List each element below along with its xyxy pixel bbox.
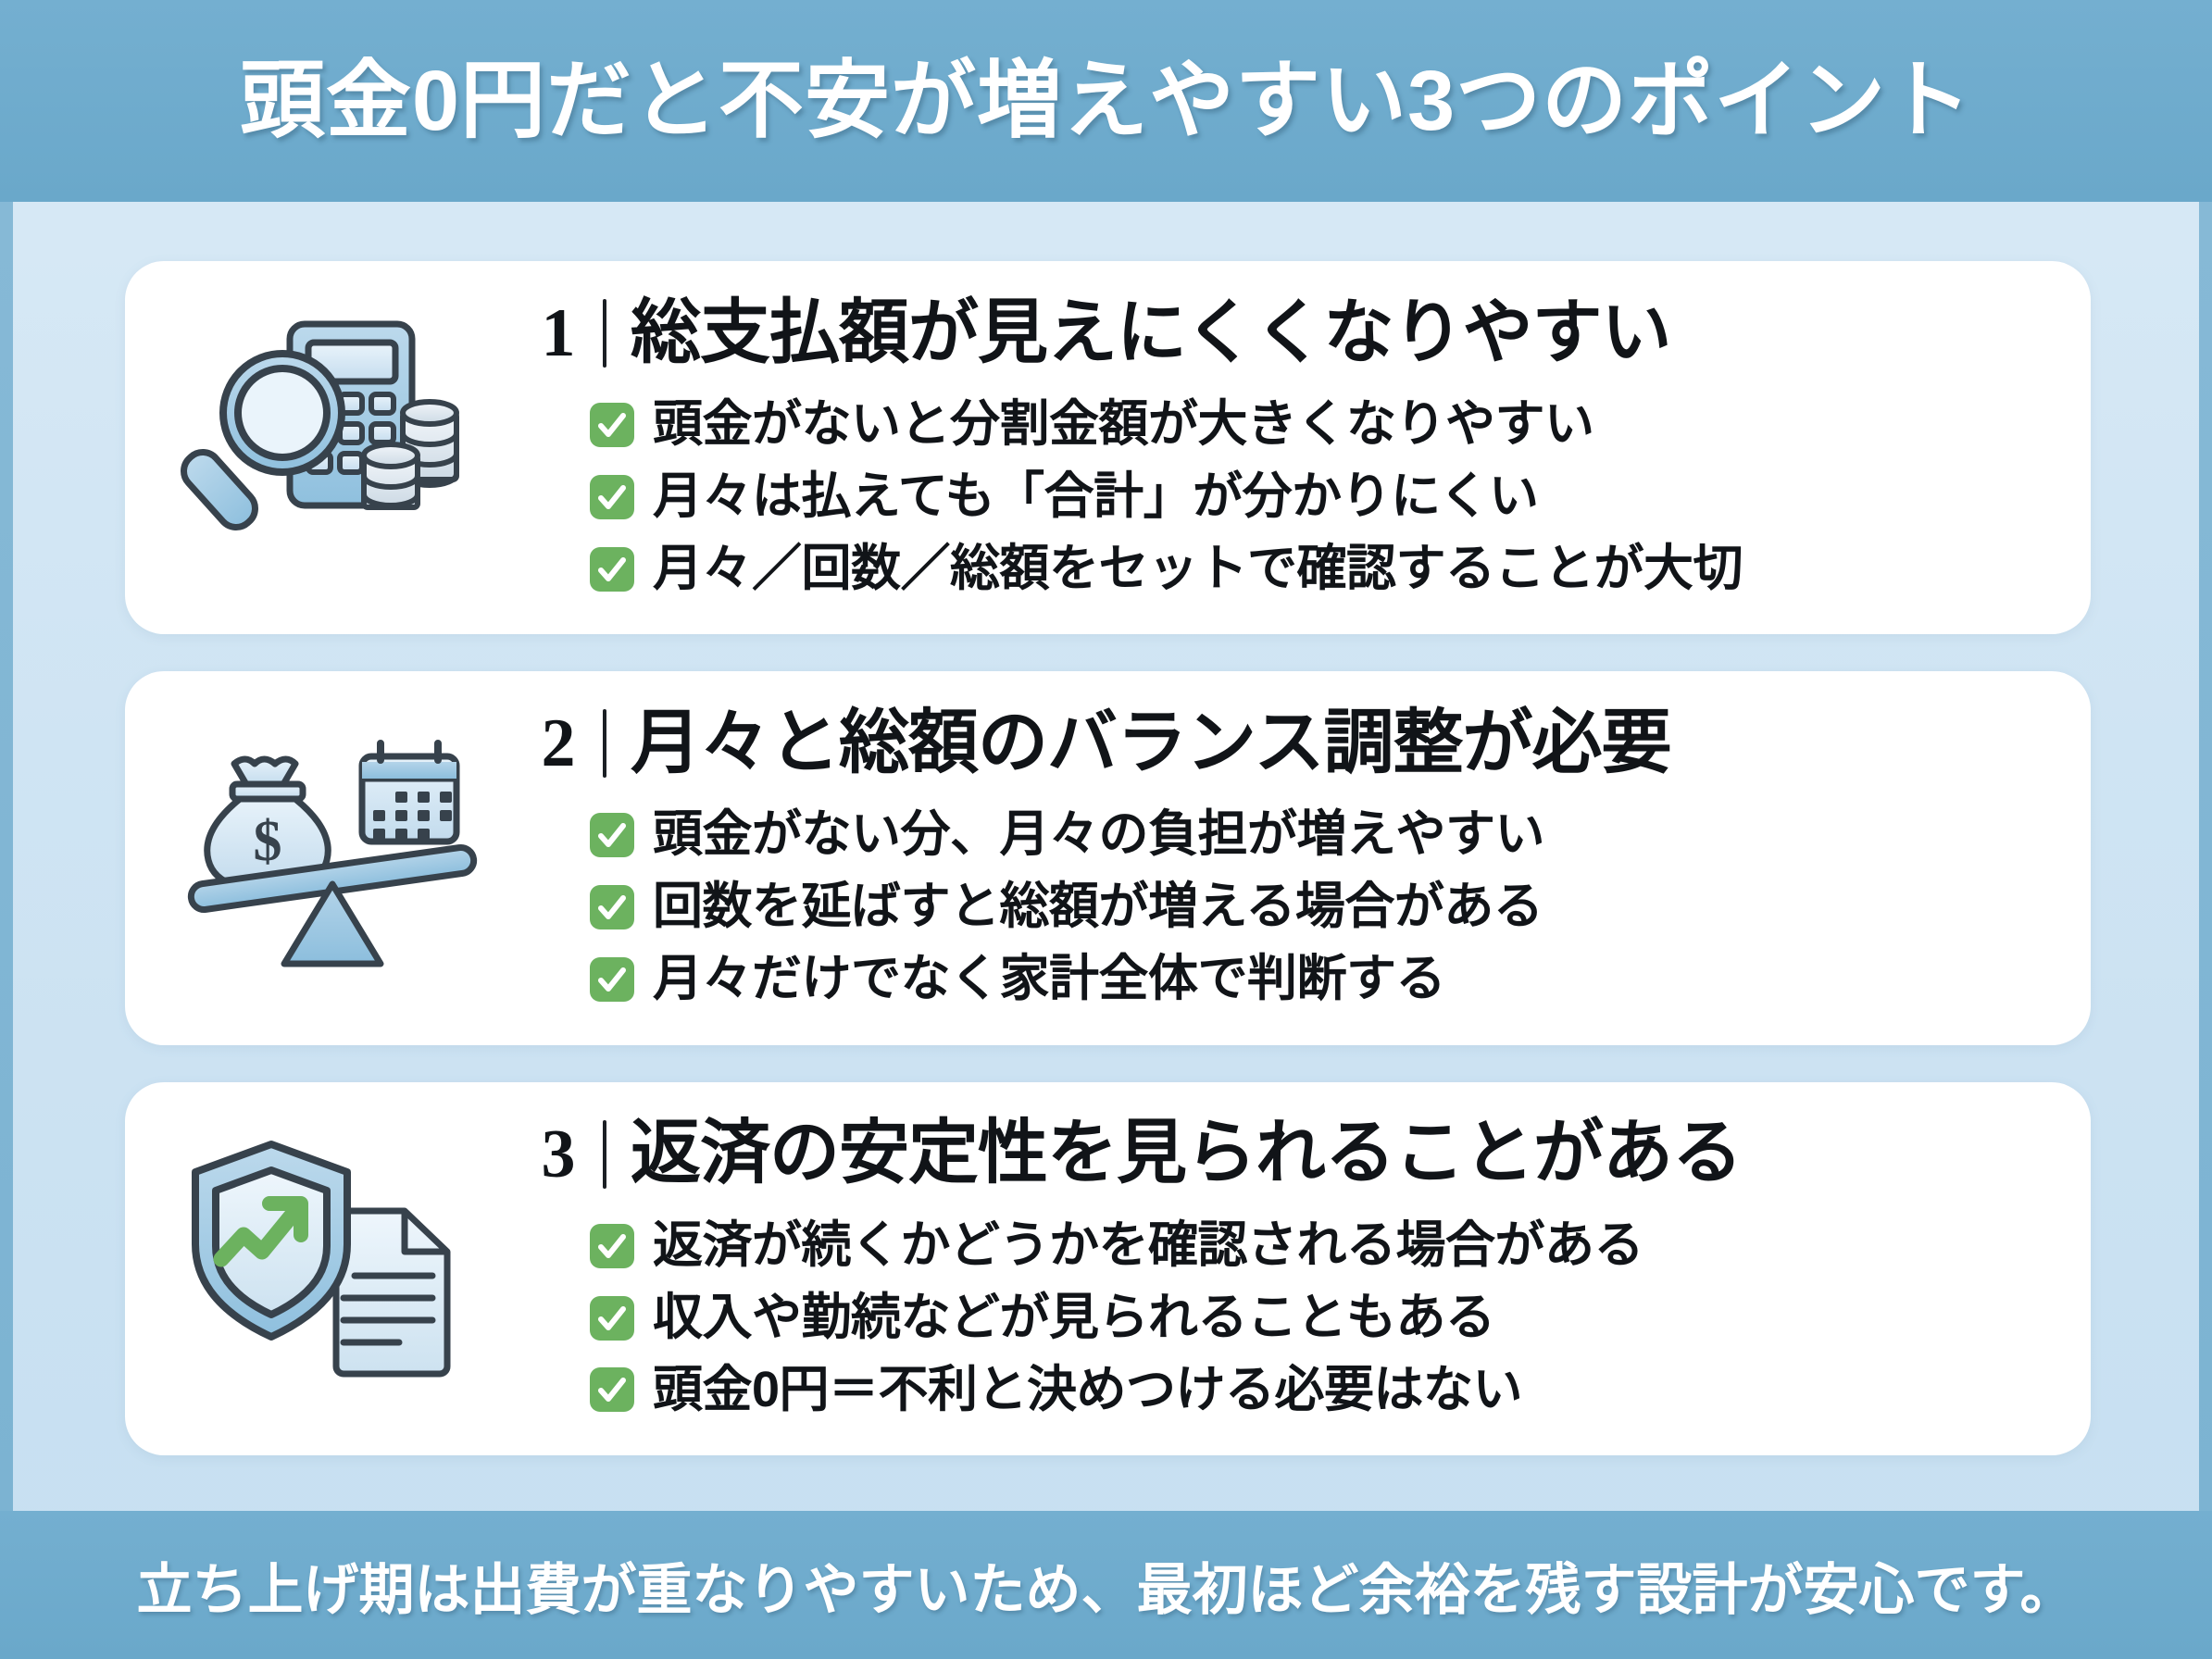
check-icon xyxy=(590,403,634,447)
check-icon xyxy=(590,813,634,857)
list-item: 頭金がない分、月々の負担が増えやすい xyxy=(590,805,2044,866)
bullet-label: 収入や勤続などが見られることもある xyxy=(653,1288,1495,1349)
check-icon xyxy=(590,1224,634,1268)
card-3-number: 3 xyxy=(532,1120,584,1189)
card-3-divider xyxy=(603,1120,606,1189)
list-item: 月々だけでなく家計全体で判断する xyxy=(590,949,2044,1010)
card-1-divider xyxy=(603,299,606,368)
check-icon xyxy=(590,547,634,592)
point-card-3[interactable]: 3 返済の安定性を見られることがある 返済が続くかどうかを確認される場合がある xyxy=(125,1082,2091,1455)
bullet-label: 頭金0円＝不利と決めつける必要はない xyxy=(653,1360,1522,1421)
card-1-text: 1 総支払額が見えにくくなりやすい 頭金がないと分割金額が大きくなりやすい xyxy=(532,296,2054,600)
card-3-bullets: 返済が続くかどうかを確認される場合がある 収入や勤続などが見られることもある 頭… xyxy=(590,1216,2044,1421)
check-icon xyxy=(590,1367,634,1412)
card-2-bullets: 頭金がない分、月々の負担が増えやすい 回数を延ばすと総額が増える場合がある 月々… xyxy=(590,805,2044,1010)
point-card-2[interactable]: $ xyxy=(125,671,2091,1044)
card-1-bullets: 頭金がないと分割金額が大きくなりやすい 月々は払えても「合計」が分かりにくい 月… xyxy=(590,394,2044,600)
check-icon xyxy=(590,1296,634,1341)
bullet-label: 回数を延ばすと総額が増える場合がある xyxy=(653,877,1543,938)
list-item: 月々／回数／総額をセットで確認することが大切 xyxy=(590,539,2044,600)
bullet-label: 返済が続くかどうかを確認される場合がある xyxy=(653,1216,1643,1277)
list-item: 頭金0円＝不利と決めつける必要はない xyxy=(590,1360,2044,1421)
card-3-text: 3 返済の安定性を見られることがある 返済が続くかどうかを確認される場合がある xyxy=(532,1116,2054,1420)
list-item: 収入や勤続などが見られることもある xyxy=(590,1288,2044,1349)
bullet-label: 頭金がない分、月々の負担が増えやすい xyxy=(653,805,1544,866)
header-banner: 頭金0円だと不安が増えやすい3つのポイント xyxy=(0,0,2212,202)
card-2-number: 2 xyxy=(532,709,584,778)
bullet-label: 月々だけでなく家計全体で判断する xyxy=(653,949,1445,1010)
list-item: 返済が続くかどうかを確認される場合がある xyxy=(590,1216,2044,1277)
card-1-number: 1 xyxy=(532,299,584,368)
magnifier-calculator-coins-icon xyxy=(134,261,532,634)
list-item: 頭金がないと分割金額が大きくなりやすい xyxy=(590,394,2044,455)
check-icon xyxy=(590,885,634,929)
card-2-title: 月々と総額のバランス調整が必要 xyxy=(631,706,1670,781)
card-stack: 1 総支払額が見えにくくなりやすい 頭金がないと分割金額が大きくなりやすい xyxy=(0,202,2212,1511)
svg-text:$: $ xyxy=(254,810,282,873)
card-2-text: 2 月々と総額のバランス調整が必要 頭金がない分、月々の負担が増えやすい xyxy=(532,706,2054,1010)
check-icon xyxy=(590,475,634,519)
infographic-poster: 頭金0円だと不安が増えやすい3つのポイント xyxy=(0,0,2212,1659)
list-item: 回数を延ばすと総額が増える場合がある xyxy=(590,877,2044,938)
card-1-title: 総支払額が見えにくくなりやすい xyxy=(631,296,1670,371)
bullet-label: 頭金がないと分割金額が大きくなりやすい xyxy=(653,394,1594,455)
left-rail xyxy=(0,202,13,1511)
card-1-heading: 1 総支払額が見えにくくなりやすい xyxy=(532,296,2044,371)
footer-banner: 立ち上げ期は出費が重なりやすいため、最初ほど余裕を残す設計が安心です。 xyxy=(0,1511,2212,1659)
page-title: 頭金0円だと不安が増えやすい3つのポイント xyxy=(240,58,1972,143)
bullet-label: 月々／回数／総額をセットで確認することが大切 xyxy=(653,539,1743,600)
card-3-heading: 3 返済の安定性を見られることがある xyxy=(532,1116,2044,1191)
card-3-title: 返済の安定性を見られることがある xyxy=(631,1116,1742,1191)
moneybag-calendar-seesaw-icon: $ xyxy=(134,671,532,1044)
footer-message: 立ち上げ期は出費が重なりやすいため、最初ほど余裕を残す設計が安心です。 xyxy=(137,1545,2076,1626)
check-icon xyxy=(590,957,634,1002)
right-rail xyxy=(2199,202,2212,1511)
bullet-label: 月々は払えても「合計」が分かりにくい xyxy=(653,467,1539,528)
point-card-1[interactable]: 1 総支払額が見えにくくなりやすい 頭金がないと分割金額が大きくなりやすい xyxy=(125,261,2091,634)
card-2-divider xyxy=(603,709,606,778)
list-item: 月々は払えても「合計」が分かりにくい xyxy=(590,467,2044,528)
card-2-heading: 2 月々と総額のバランス調整が必要 xyxy=(532,706,2044,781)
shield-chart-document-icon xyxy=(134,1082,532,1455)
